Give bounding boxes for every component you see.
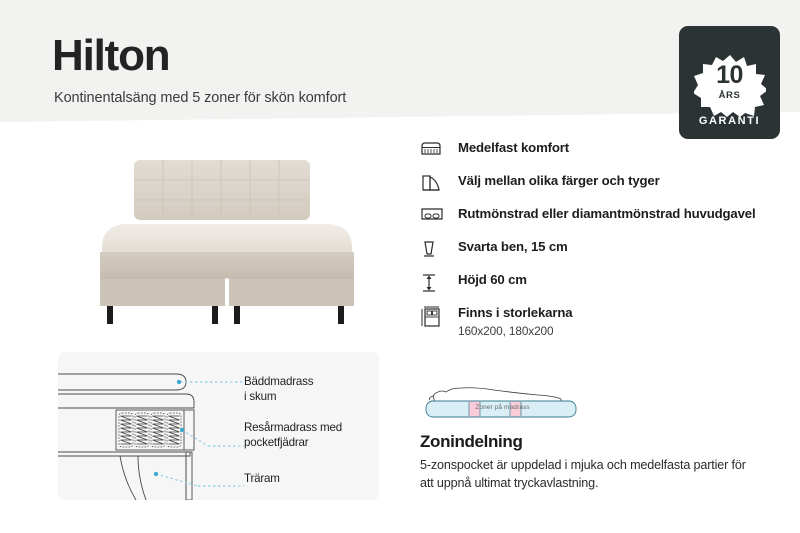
bed-leg-icon xyxy=(420,238,450,259)
feature-text: Medelfast komfort xyxy=(450,139,569,157)
zone-section-body: 5-zonspocket är uppdelad i mjuka och med… xyxy=(420,456,760,493)
feature-label: Finns i storlekarna xyxy=(458,304,572,322)
page-title: Hilton xyxy=(52,34,169,78)
feature-item-legs: Svarta ben, 15 cm xyxy=(420,238,790,271)
feature-text: Finns i storlekarna 160x200, 180x200 xyxy=(450,304,572,339)
feature-label: Rutmönstrad eller diamantmönstrad huvudg… xyxy=(458,205,756,223)
cutaway-label: Resårmadrass med pocketfjädrar xyxy=(244,420,342,451)
feature-label: Välj mellan olika färger och tyger xyxy=(458,172,660,190)
product-info-sheet: Hilton Kontinentalsäng med 5 zoner för s… xyxy=(0,0,800,533)
cutaway-label: Träram xyxy=(244,471,280,486)
zone-section-title: Zonindelning xyxy=(420,432,523,452)
feature-label: Svarta ben, 15 cm xyxy=(458,238,568,256)
page-subtitle: Kontinentalsäng med 5 zoner för skön kom… xyxy=(54,90,346,106)
badge-years: 10 xyxy=(694,63,766,88)
feature-text: Välj mellan olika färger och tyger xyxy=(450,172,660,190)
starburst-icon: 10 ÅRS xyxy=(694,55,766,117)
feature-item-headboard: Rutmönstrad eller diamantmönstrad huvudg… xyxy=(420,205,790,238)
feature-item-height: Höjd 60 cm xyxy=(420,271,790,304)
cutaway-label: Bäddmadrass i skum xyxy=(244,374,313,405)
feature-item-comfort: Medelfast komfort xyxy=(420,139,790,172)
feature-sub-label: 160x200, 180x200 xyxy=(458,323,572,340)
feature-text: Rutmönstrad eller diamantmönstrad huvudg… xyxy=(450,205,756,223)
zone-figure-caption: Zoner på madrass xyxy=(420,404,585,411)
guarantee-badge: 10 ÅRS GARANTI xyxy=(679,26,780,139)
mattress-icon xyxy=(420,139,450,158)
zone-figure xyxy=(420,368,585,424)
feature-label: Medelfast komfort xyxy=(458,139,569,157)
badge-years-unit: ÅRS xyxy=(694,90,766,101)
feature-text: Höjd 60 cm xyxy=(450,271,527,289)
fabric-swatch-icon xyxy=(420,172,450,193)
bed-size-icon xyxy=(420,304,450,329)
headboard-icon xyxy=(420,205,450,222)
feature-label: Höjd 60 cm xyxy=(458,271,527,289)
feature-text: Svarta ben, 15 cm xyxy=(450,238,568,256)
feature-item-fabrics: Välj mellan olika färger och tyger xyxy=(420,172,790,205)
badge-label: GARANTI xyxy=(679,115,780,127)
product-photo xyxy=(62,142,392,337)
feature-list: Medelfast komfort Välj mellan olika färg… xyxy=(420,139,790,348)
height-arrow-icon xyxy=(420,271,450,294)
feature-item-sizes: Finns i storlekarna 160x200, 180x200 xyxy=(420,304,790,348)
